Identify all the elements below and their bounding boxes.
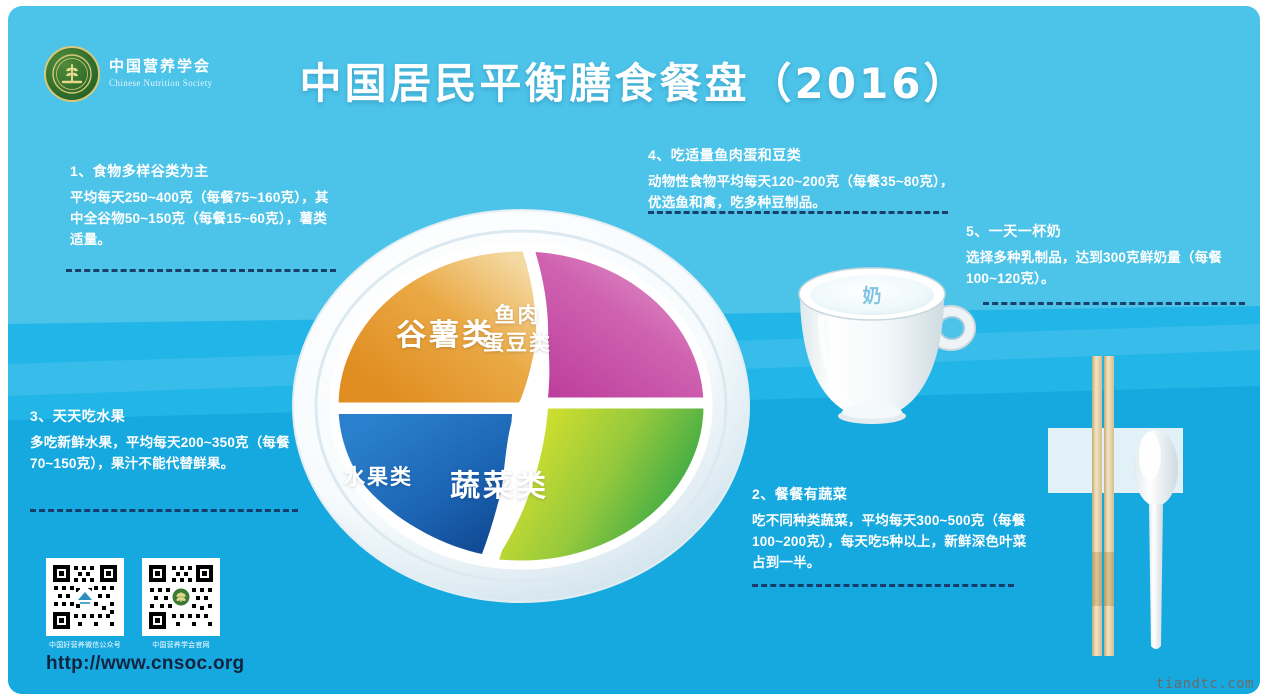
qr-code-icon-website[interactable] [142, 558, 220, 636]
qr-caption-wechat: 中国好营养微信公众号 [46, 640, 124, 650]
callout-3-heading: 3、天天吃水果 [30, 406, 298, 426]
qr-caption-website: 中国营养学会官网 [142, 640, 220, 650]
utensils-group [1028, 356, 1258, 656]
callout-3-connector [30, 509, 298, 512]
qr-code-icon-wechat[interactable] [46, 558, 124, 636]
callout-5-connector [983, 302, 1245, 305]
callout-3-fruit: 3、天天吃水果 多吃新鲜水果，平均每天200~350克（每餐70~150克），果… [30, 406, 298, 475]
callout-2-heading: 2、餐餐有蔬菜 [752, 484, 1030, 504]
cup-milk-label: 奶 [862, 284, 881, 307]
page-title: 中国居民平衡膳食餐盘（2016） [8, 50, 1260, 111]
callout-2-body: 吃不同种类蔬菜，平均每天300~500克（每餐100~200克），每天吃5种以上… [752, 511, 1030, 574]
callout-2-connector [752, 584, 1014, 587]
website-url[interactable]: http://www.cnsoc.org [46, 653, 244, 675]
balanced-diet-plate: 谷薯类 鱼肉蛋豆类 水果类 蔬菜类 [286, 206, 756, 606]
watermark: tiandtc.com [1156, 676, 1254, 692]
callout-1-heading: 1、食物多样谷类为主 [70, 161, 332, 181]
callout-3-body: 多吃新鲜水果，平均每天200~350克（每餐70~150克），果汁不能代替鲜果。 [30, 433, 298, 475]
poster-root: 中国营养学会 Chinese Nutrition Society 中国居民平衡膳… [0, 0, 1268, 700]
callout-2-vegetables: 2、餐餐有蔬菜 吃不同种类蔬菜，平均每天300~500克（每餐100~200克）… [752, 484, 1030, 574]
callout-4-heading: 4、吃适量鱼肉蛋和豆类 [648, 145, 958, 165]
callout-4-protein: 4、吃适量鱼肉蛋和豆类 动物性食物平均每天120~200克（每餐35~80克），… [648, 145, 958, 214]
poster-panel: 中国营养学会 Chinese Nutrition Society 中国居民平衡膳… [8, 6, 1260, 694]
milk-cup-icon: 奶 [788, 256, 1018, 436]
footer-qr-block: 中国好营养微信公众号 中国营养学会官网 http://www.cnsoc.org [46, 558, 244, 675]
callout-5-heading: 5、一天一杯奶 [966, 221, 1238, 241]
